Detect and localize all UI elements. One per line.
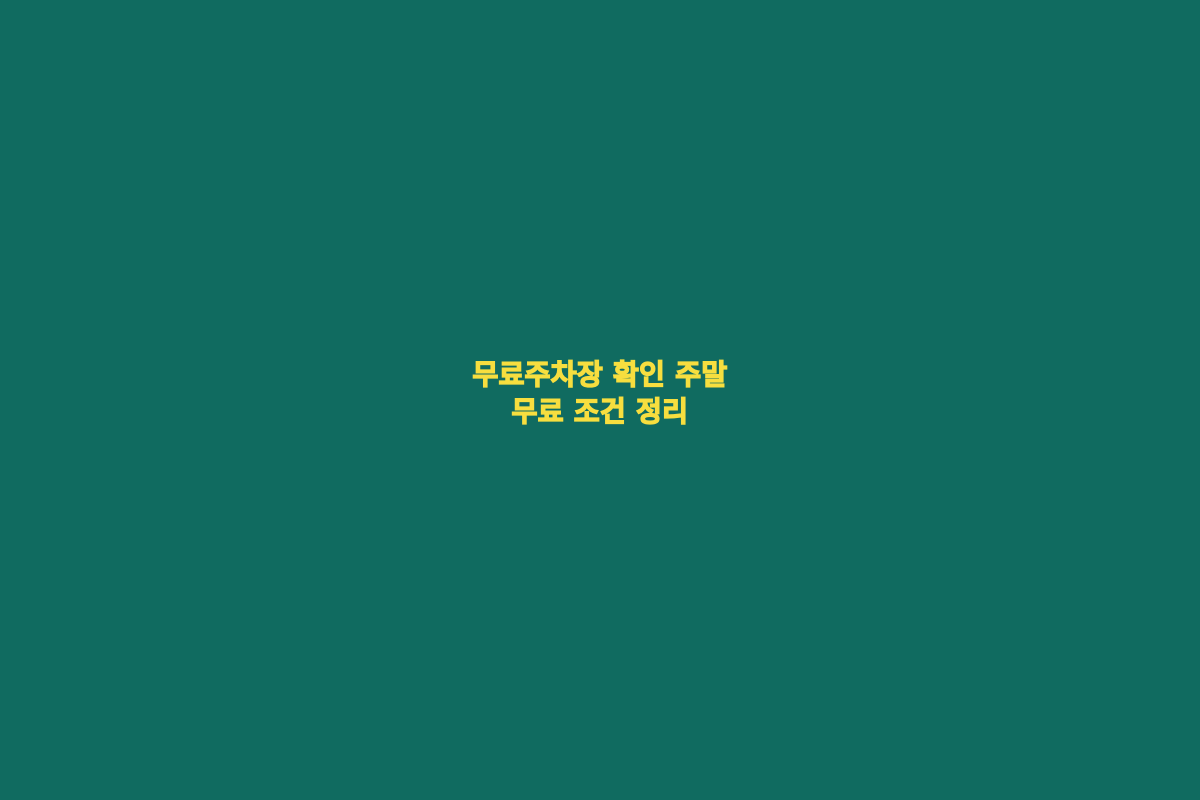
headline-line-2: 무료 조건 정리 bbox=[0, 393, 1200, 430]
banner-canvas: 무료주차장 확인 주말 무료 조건 정리 bbox=[0, 0, 1200, 800]
headline-line-1: 무료주차장 확인 주말 bbox=[0, 356, 1200, 393]
headline-block: 무료주차장 확인 주말 무료 조건 정리 bbox=[0, 356, 1200, 430]
